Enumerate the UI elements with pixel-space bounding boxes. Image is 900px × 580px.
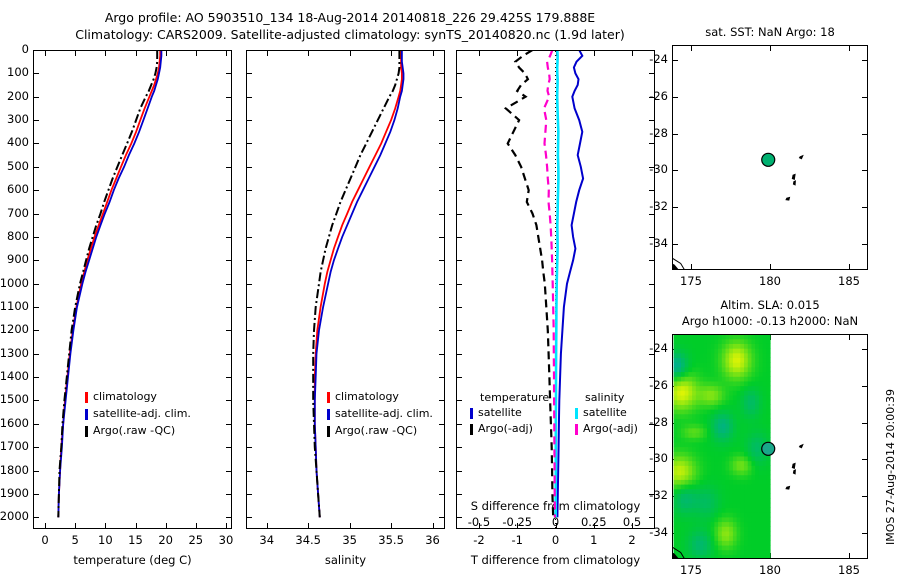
temperature-axes-ytick-label: 1100 <box>0 299 29 313</box>
sst-map-axes-ytick-label: -28 <box>612 126 668 140</box>
island-shape <box>786 486 790 489</box>
temperature-axes-ytick-label: 300 <box>0 112 29 126</box>
temperature-axes-ytick-label: 200 <box>0 89 29 103</box>
sla-map-axes-xtick-label: 185 <box>819 563 879 577</box>
salinity-legend-label: Argo(.raw -QC) <box>335 424 417 437</box>
island-shape <box>792 174 795 180</box>
island-shape <box>799 444 803 448</box>
temperature-legend-swatch <box>85 392 88 403</box>
sla-map-axes-ytick-label: -28 <box>612 415 668 429</box>
temperature-axes-ytick-label: 1500 <box>0 392 29 406</box>
sla-map-axes-ytick-label: -34 <box>612 525 668 539</box>
sst-map-axes-ytick-label: -34 <box>612 236 668 250</box>
sst-map-content <box>673 46 867 269</box>
sla-map-axes-ytick-label: -32 <box>612 488 668 502</box>
temperature-satellite-adj-line <box>58 51 161 517</box>
temperature-axes-ytick-label: 1600 <box>0 416 29 430</box>
temperature-axes-ytick-label: 1000 <box>0 276 29 290</box>
plot-title-line1: Argo profile: AO 5903510_134 18-Aug-2014… <box>0 10 700 25</box>
temperature-axes-ytick-label: 1200 <box>0 322 29 336</box>
salinity-legend-swatch <box>327 409 330 420</box>
sst-map-axes-ytick-label: -24 <box>612 52 668 66</box>
temperature-axes-ytick-label: 800 <box>0 229 29 243</box>
salinity-argo-raw-line <box>313 51 399 517</box>
salinity-legend-swatch <box>327 392 330 403</box>
salinity-legend-label: satellite-adj. clim. <box>335 407 433 420</box>
temperature-axes-ytick-label: 1700 <box>0 439 29 453</box>
sla-map-title-line1: Altim. SLA: 0.015 <box>632 298 900 312</box>
temperature-axes-ytick-label: 0 <box>0 42 29 56</box>
temperature-legend-label: satellite-adj. clim. <box>93 407 191 420</box>
temperature-axes-ytick-label: 1400 <box>0 369 29 383</box>
island-shape <box>786 197 790 200</box>
sst-map-axes-xtick-label: 185 <box>819 274 879 288</box>
difference-legend-header: temperature <box>480 391 549 404</box>
temperature-axes-ytick-label: 1300 <box>0 346 29 360</box>
s-difference-argo-adj-line <box>544 51 555 517</box>
sst-map-axes-ytick-label: -30 <box>612 162 668 176</box>
temperature-legend-label: Argo(.raw -QC) <box>93 424 175 437</box>
difference-legend-swatch <box>470 408 473 419</box>
temperature-axes-ytick-label: 700 <box>0 206 29 220</box>
difference-legend-header: salinity <box>585 391 624 404</box>
sla-map-axes-ytick-label: -26 <box>612 378 668 392</box>
temperature-axes-ytick-label: 1800 <box>0 463 29 477</box>
temperature-axes-ytick-label: 400 <box>0 135 29 149</box>
island-shape <box>792 463 795 469</box>
sst-map-axes-ytick-label: -26 <box>612 89 668 103</box>
sla-colour-field <box>674 335 771 558</box>
plot-title-line2: Climatology: CARS2009. Satellite-adjuste… <box>0 27 700 42</box>
salinity-legend-swatch <box>327 426 330 437</box>
difference-legend-swatch <box>575 408 578 419</box>
t-difference-argo-adj-line <box>506 51 553 517</box>
difference-legend-swatch <box>470 424 473 435</box>
sla-map-axes-ytick-label: -30 <box>612 451 668 465</box>
temperature-xaxis-label: temperature (deg C) <box>33 553 232 567</box>
temperature-curves <box>34 51 231 528</box>
temperature-axes-ytick-label: 900 <box>0 252 29 266</box>
argo-float-marker[interactable] <box>762 442 775 455</box>
temperature-legend-swatch <box>85 409 88 420</box>
t-difference-satellite-line <box>557 51 583 517</box>
salinity-xaxis-label: salinity <box>246 553 445 567</box>
temperature-axes-ytick-label: 500 <box>0 159 29 173</box>
temperature-legend-swatch <box>85 426 88 437</box>
island-shape <box>799 155 803 159</box>
imos-timestamp: IMOS 27-Aug-2014 20:00:39 <box>884 389 897 545</box>
island-shape <box>793 470 795 475</box>
sst-map-title: sat. SST: NaN Argo: 18 <box>632 25 900 39</box>
salinity-curves <box>247 51 444 528</box>
salinity-legend-label: climatology <box>335 390 399 403</box>
temperature-legend-label: climatology <box>93 390 157 403</box>
sst-map-axes-xtick-label: 175 <box>661 274 721 288</box>
sst-map-axes-ytick-label: -32 <box>612 199 668 213</box>
temperature-climatology-line <box>58 51 160 517</box>
sst-map-axes-xtick-label: 180 <box>740 274 800 288</box>
sla-map-content <box>673 335 867 558</box>
sla-map-title-line2: Argo h1000: -0.13 h2000: NaN <box>632 314 900 328</box>
difference-legend-label: satellite <box>478 406 522 419</box>
difference-legend-label: Argo(-adj) <box>478 422 533 435</box>
argo-float-marker[interactable] <box>762 153 775 166</box>
sla-map-axes-ytick-label: -24 <box>612 341 668 355</box>
landmass-fill <box>673 264 679 270</box>
difference-temperature-axis-label: T difference from climatology <box>456 553 655 567</box>
sla-map-axes-xtick-label: 180 <box>740 563 800 577</box>
temperature-axes-ytick-label: 2000 <box>0 509 29 523</box>
temperature-axes-ytick-label: 600 <box>0 182 29 196</box>
island-shape <box>793 181 795 186</box>
difference-legend-swatch <box>575 424 578 435</box>
sla-map-axes-xtick-label: 175 <box>661 563 721 577</box>
temperature-axes-ytick-label: 1900 <box>0 486 29 500</box>
temperature-axes-ytick-label: 100 <box>0 65 29 79</box>
